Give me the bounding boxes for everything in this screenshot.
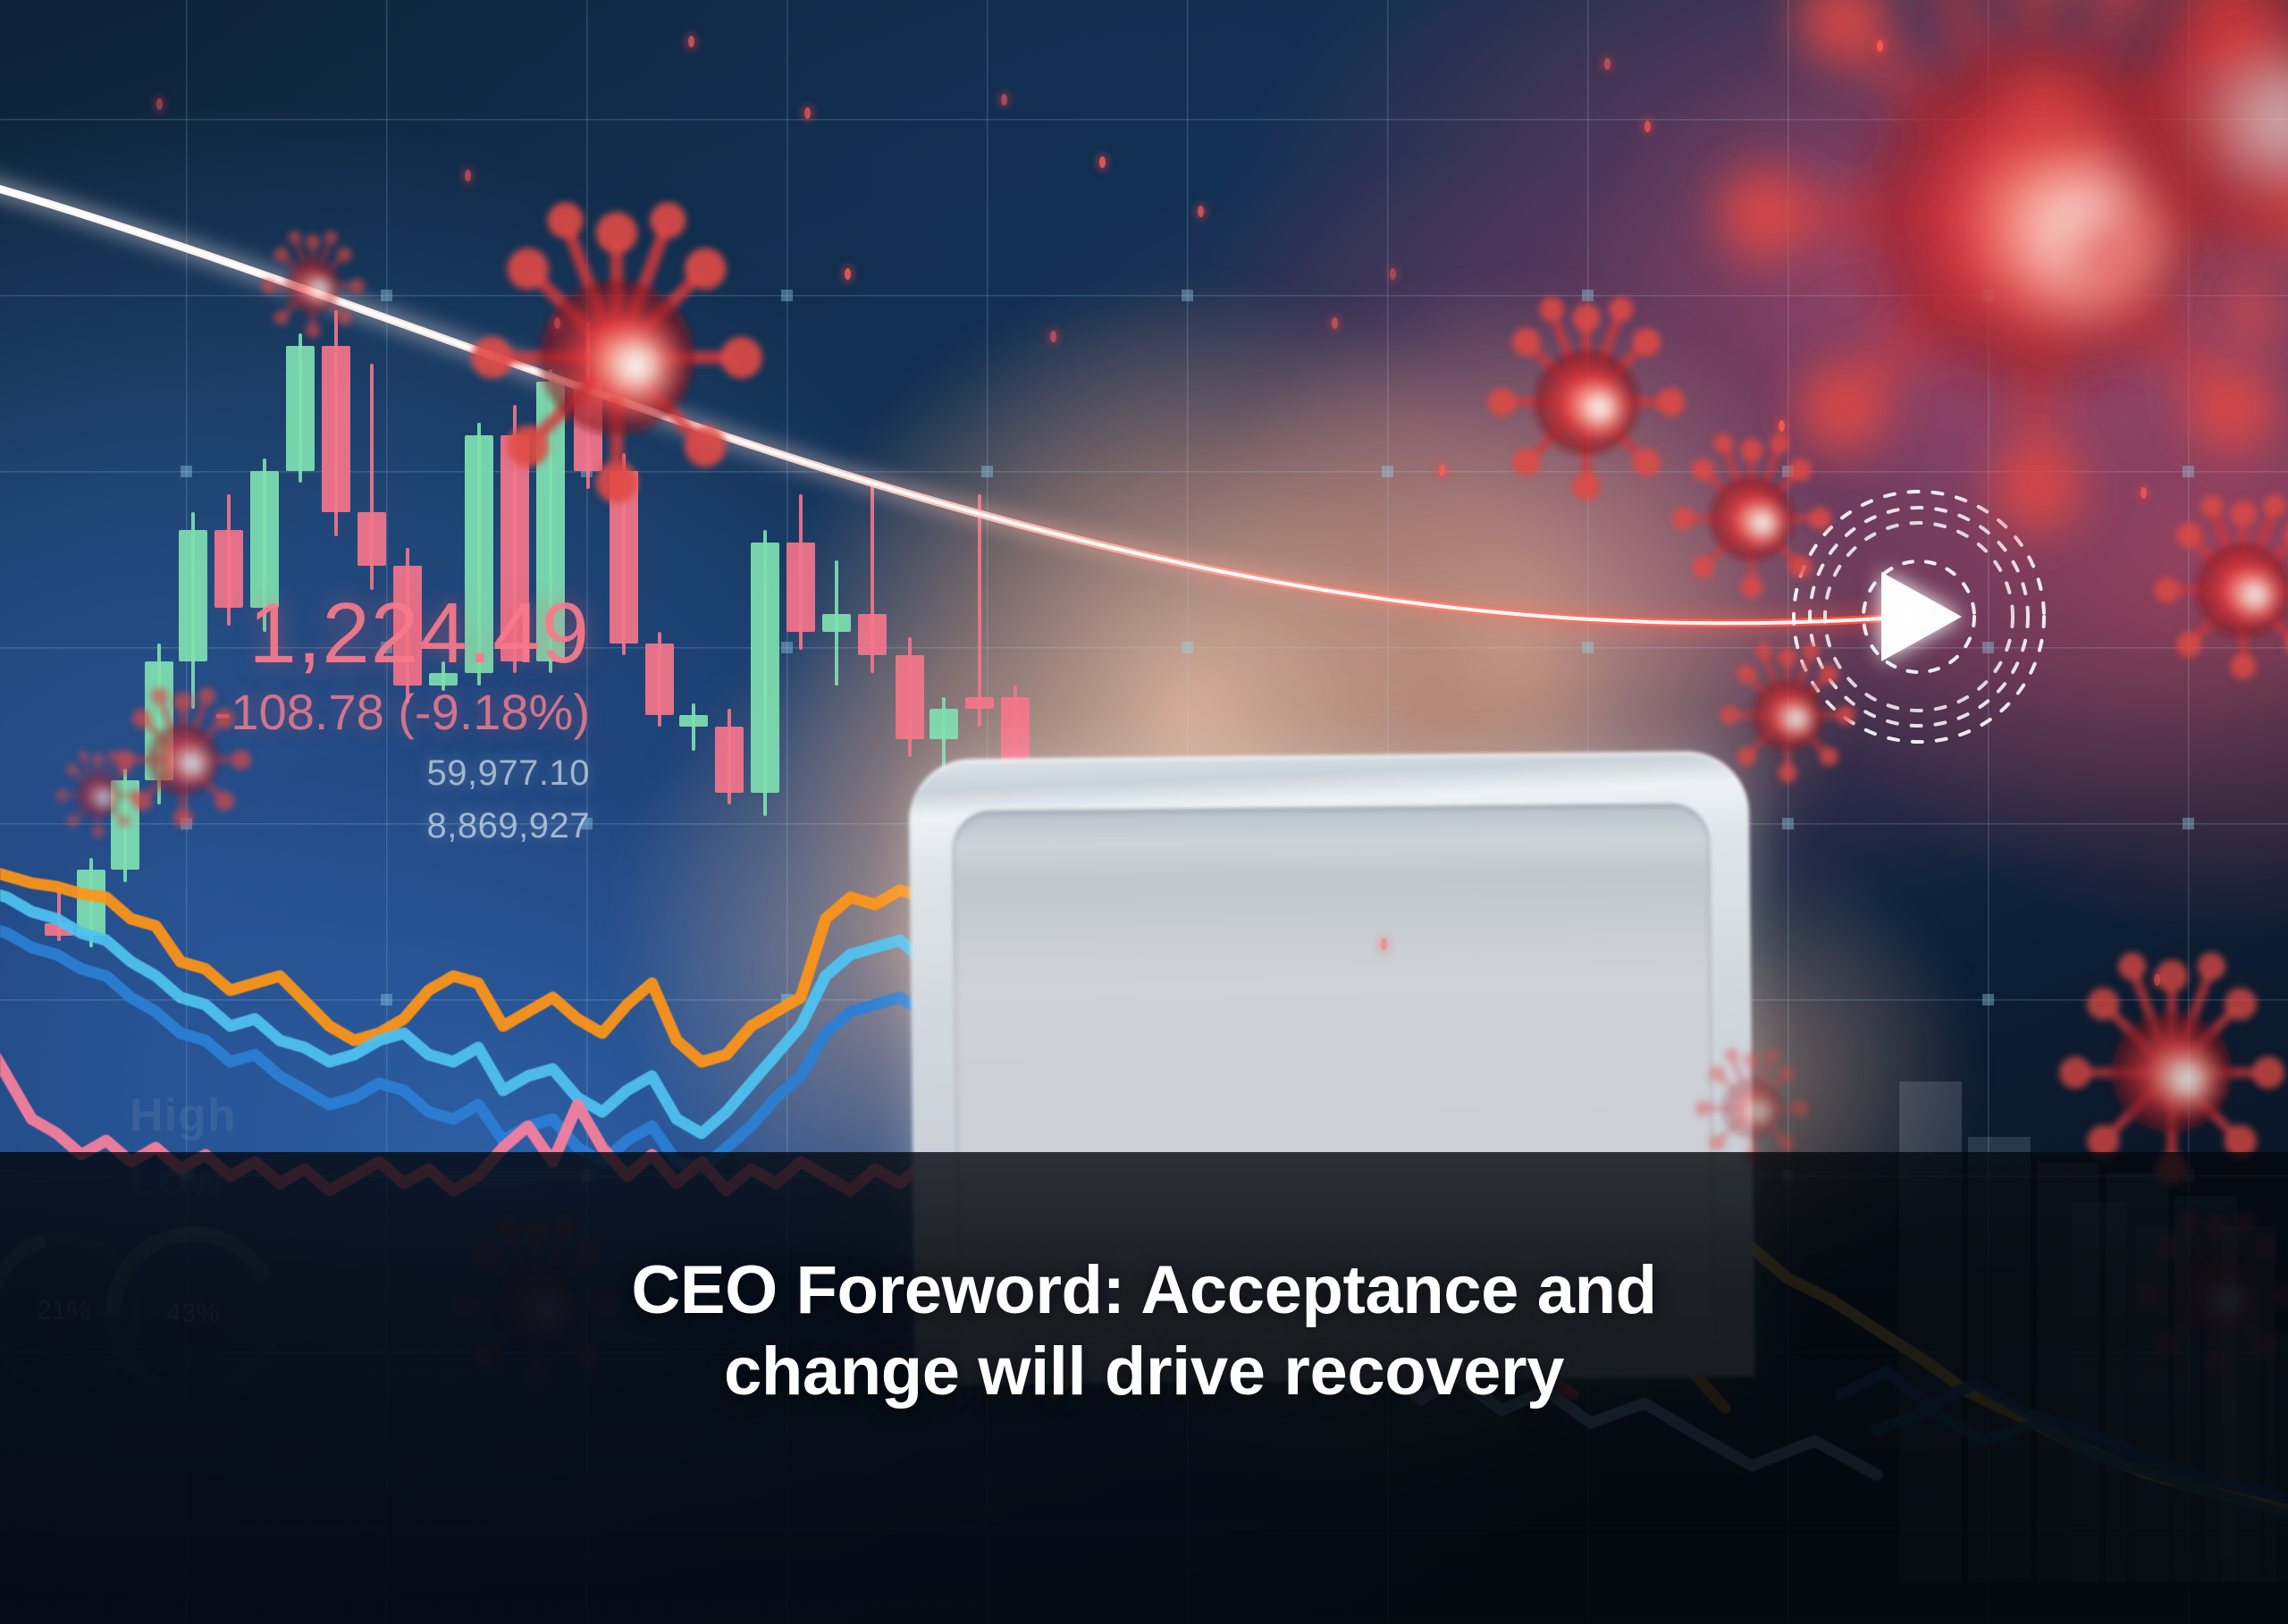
light-particle: [1050, 331, 1056, 342]
page-title: CEO Foreword: Acceptance and change will…: [0, 1250, 2288, 1412]
headline-line-1: CEO Foreword: Acceptance and: [268, 1250, 2020, 1331]
light-particle: [1099, 156, 1106, 168]
hero-banner: 1,224.49 -108.78 (-9.18%) 59,977.10 8,86…: [0, 0, 2288, 1624]
headline-line-2: change will drive recovery: [268, 1331, 2020, 1412]
light-particle: [1439, 465, 1445, 476]
light-particle: [156, 98, 163, 110]
light-particle: [1604, 58, 1611, 70]
light-particle: [1381, 938, 1387, 950]
light-particle: [845, 268, 851, 280]
light-particle: [1332, 317, 1338, 329]
light-particle: [1198, 206, 1204, 217]
light-particle: [2141, 487, 2147, 499]
light-particle: [465, 170, 471, 181]
light-particle: [1779, 420, 1785, 432]
light-particle: [554, 317, 560, 329]
light-particle: [1644, 121, 1651, 132]
light-particle: [804, 107, 811, 119]
light-particle: [1877, 40, 1883, 52]
light-particle: [688, 36, 694, 47]
light-particle: [1390, 268, 1396, 280]
light-particle: [2154, 974, 2160, 986]
light-particle: [1001, 94, 1007, 105]
